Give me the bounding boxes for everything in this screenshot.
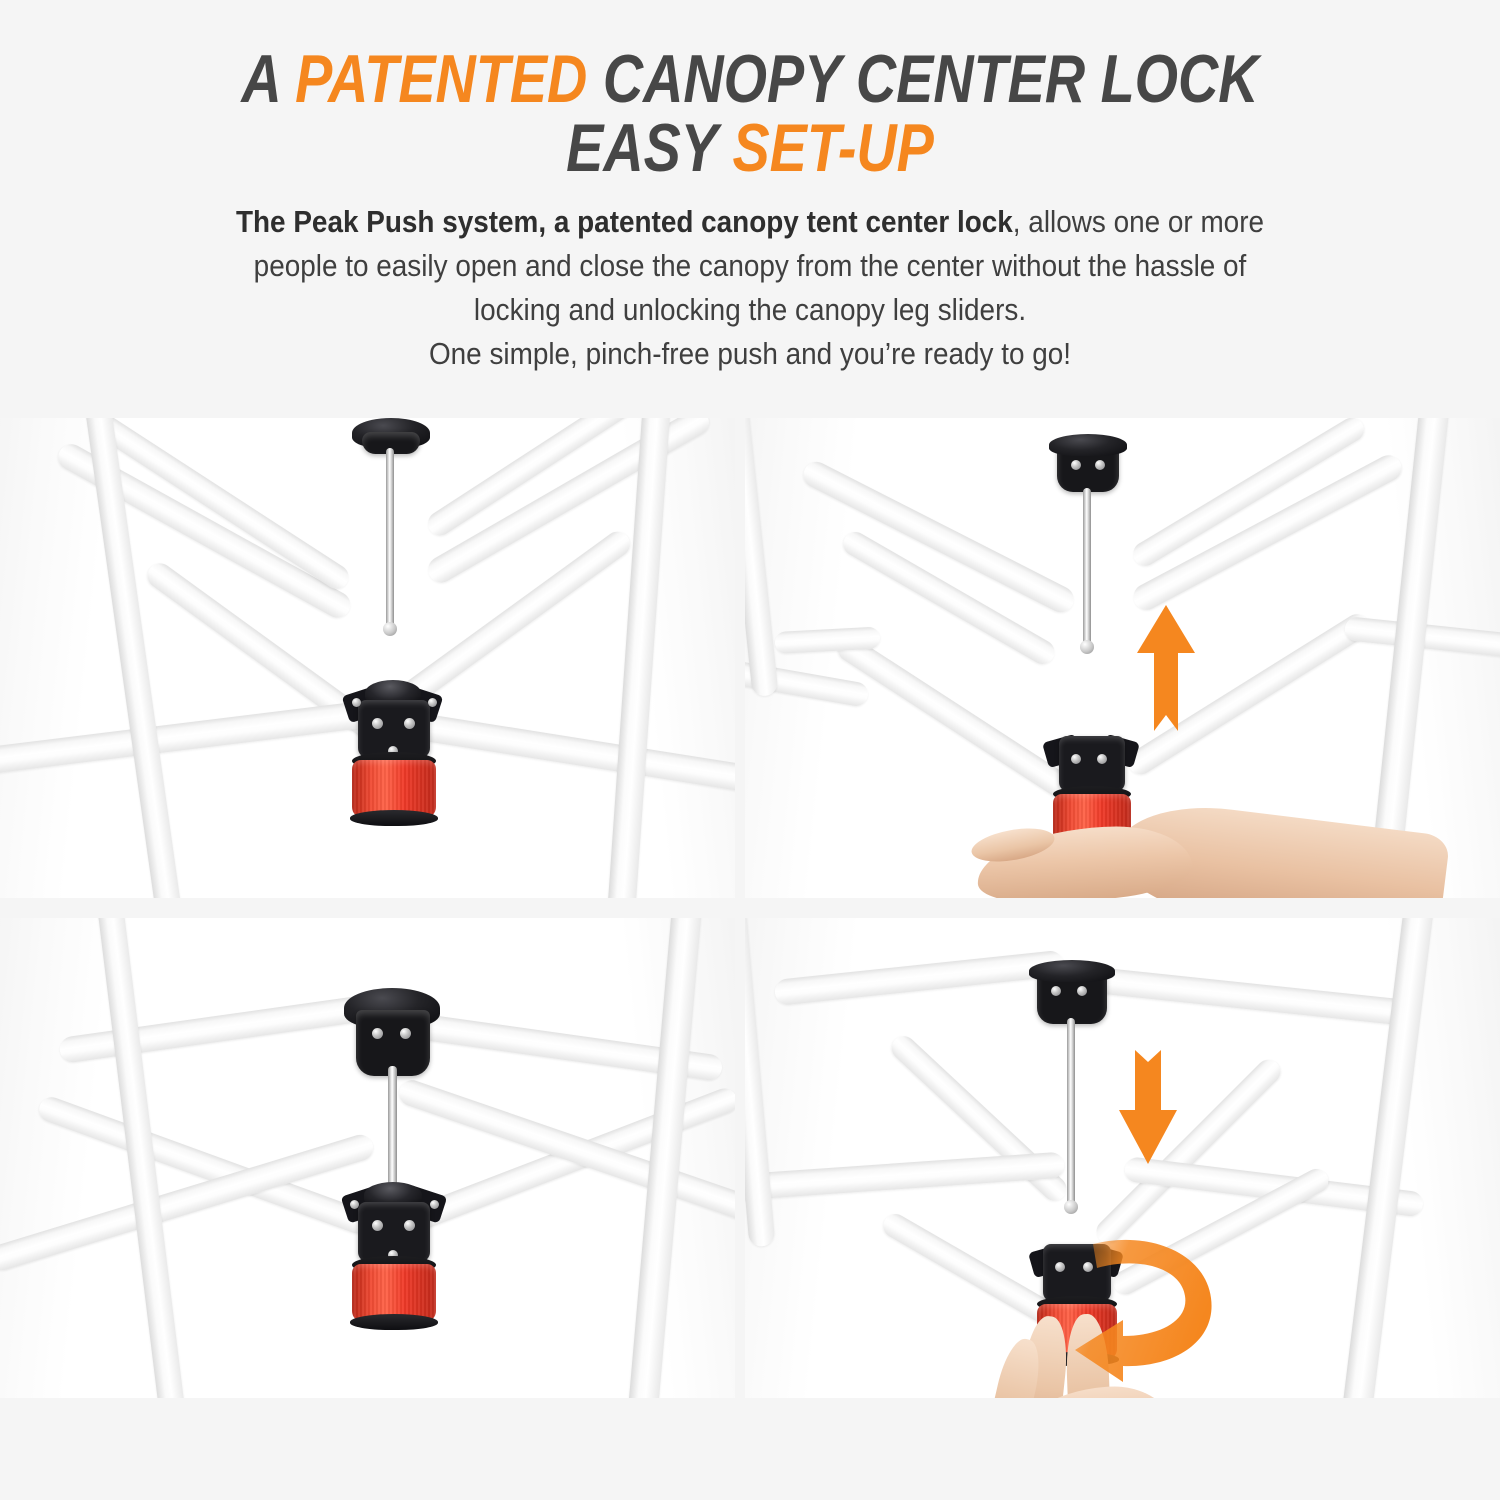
panel-locked-overview: Center lock engaged — chrome rod extende…: [0, 918, 735, 1398]
title-line-1: A PATENTED CANOPY CENTER LOCK: [135, 48, 1365, 111]
knob-collar-bottom: [350, 1314, 438, 1330]
panel-push-up-with-hand: Hand pushing the red center lock knob up…: [745, 418, 1500, 898]
title-word-a: A: [241, 41, 295, 117]
panel-2-stage: [745, 418, 1500, 898]
product-photo-grid: Canopy frame with center lock disengaged…: [0, 418, 1500, 1428]
panel-4-stage: [745, 918, 1500, 1398]
center-lock-hub[interactable]: [1059, 736, 1125, 792]
description-line-4: One simple, pinch-free push and you’re r…: [75, 332, 1425, 376]
peak-fitting-cap: [1049, 434, 1127, 456]
arrow-twist-icon: [997, 1234, 1237, 1384]
header-section: A PATENTED CANOPY CENTER LOCK EASY SET-U…: [0, 0, 1500, 410]
description-line-2: people to easily open and close the cano…: [75, 244, 1425, 288]
panel-1-stage: [0, 418, 735, 898]
hub-rivet: [404, 718, 415, 729]
peak-rivet: [1095, 460, 1105, 470]
description-line-3: locking and unlocking the canopy leg sli…: [75, 288, 1425, 332]
canopy-tube: [1084, 966, 1415, 1026]
arrow-up-icon: [1133, 603, 1199, 733]
description-line-1-rest: , allows one or more: [1013, 204, 1264, 239]
center-lock-rod: [1083, 488, 1091, 646]
center-lock-rod-tip: [1064, 1200, 1078, 1214]
panel-unlocked-overview: Canopy frame with center lock disengaged…: [0, 418, 735, 898]
title-word-patented: PATENTED: [295, 41, 587, 117]
panel-3-stage: [0, 918, 735, 1398]
hub-rivet: [430, 1200, 439, 1209]
hub-rivet: [352, 698, 361, 707]
description-bold-lead: The Peak Push system, a patented canopy …: [236, 204, 1013, 239]
arrow-down-icon: [1115, 1048, 1181, 1166]
peak-rivet: [1051, 986, 1061, 996]
hub-rivet: [372, 1220, 383, 1231]
peak-rivet: [1077, 986, 1087, 996]
peak-rivet: [1071, 460, 1081, 470]
center-lock-rod-tip: [383, 622, 397, 636]
description-paragraph: The Peak Push system, a patented canopy …: [0, 200, 1500, 376]
center-lock-rod-tip: [1080, 640, 1094, 654]
title-word-set-up: SET-UP: [732, 110, 933, 186]
hub-rivet: [404, 1220, 415, 1231]
title-line-2: EASY SET-UP: [135, 117, 1365, 180]
knob-collar-bottom: [350, 810, 438, 826]
hub-rivet: [372, 718, 383, 729]
center-lock-rod: [386, 448, 394, 628]
title-word-easy: EASY: [566, 110, 732, 186]
description-line-1: The Peak Push system, a patented canopy …: [75, 200, 1425, 244]
center-lock-rod: [1067, 1018, 1075, 1206]
peak-rivet: [372, 1028, 383, 1039]
peak-rivet: [400, 1028, 411, 1039]
page-title: A PATENTED CANOPY CENTER LOCK EASY SET-U…: [0, 48, 1500, 179]
hub-rivet: [1071, 754, 1081, 764]
title-word-canopy-center-lock: CANOPY CENTER LOCK: [587, 41, 1258, 117]
panel-twist-down-with-hand: Hand twisting the red knob and pulling d…: [745, 918, 1500, 1398]
photo-left-edge: [0, 918, 119, 1398]
canopy-tube: [398, 527, 635, 709]
hub-rivet: [350, 1200, 359, 1209]
hub-rivet: [1097, 754, 1107, 764]
peak-fitting-cap: [1029, 960, 1115, 982]
hub-rivet: [428, 698, 437, 707]
canopy-tube: [58, 992, 388, 1064]
